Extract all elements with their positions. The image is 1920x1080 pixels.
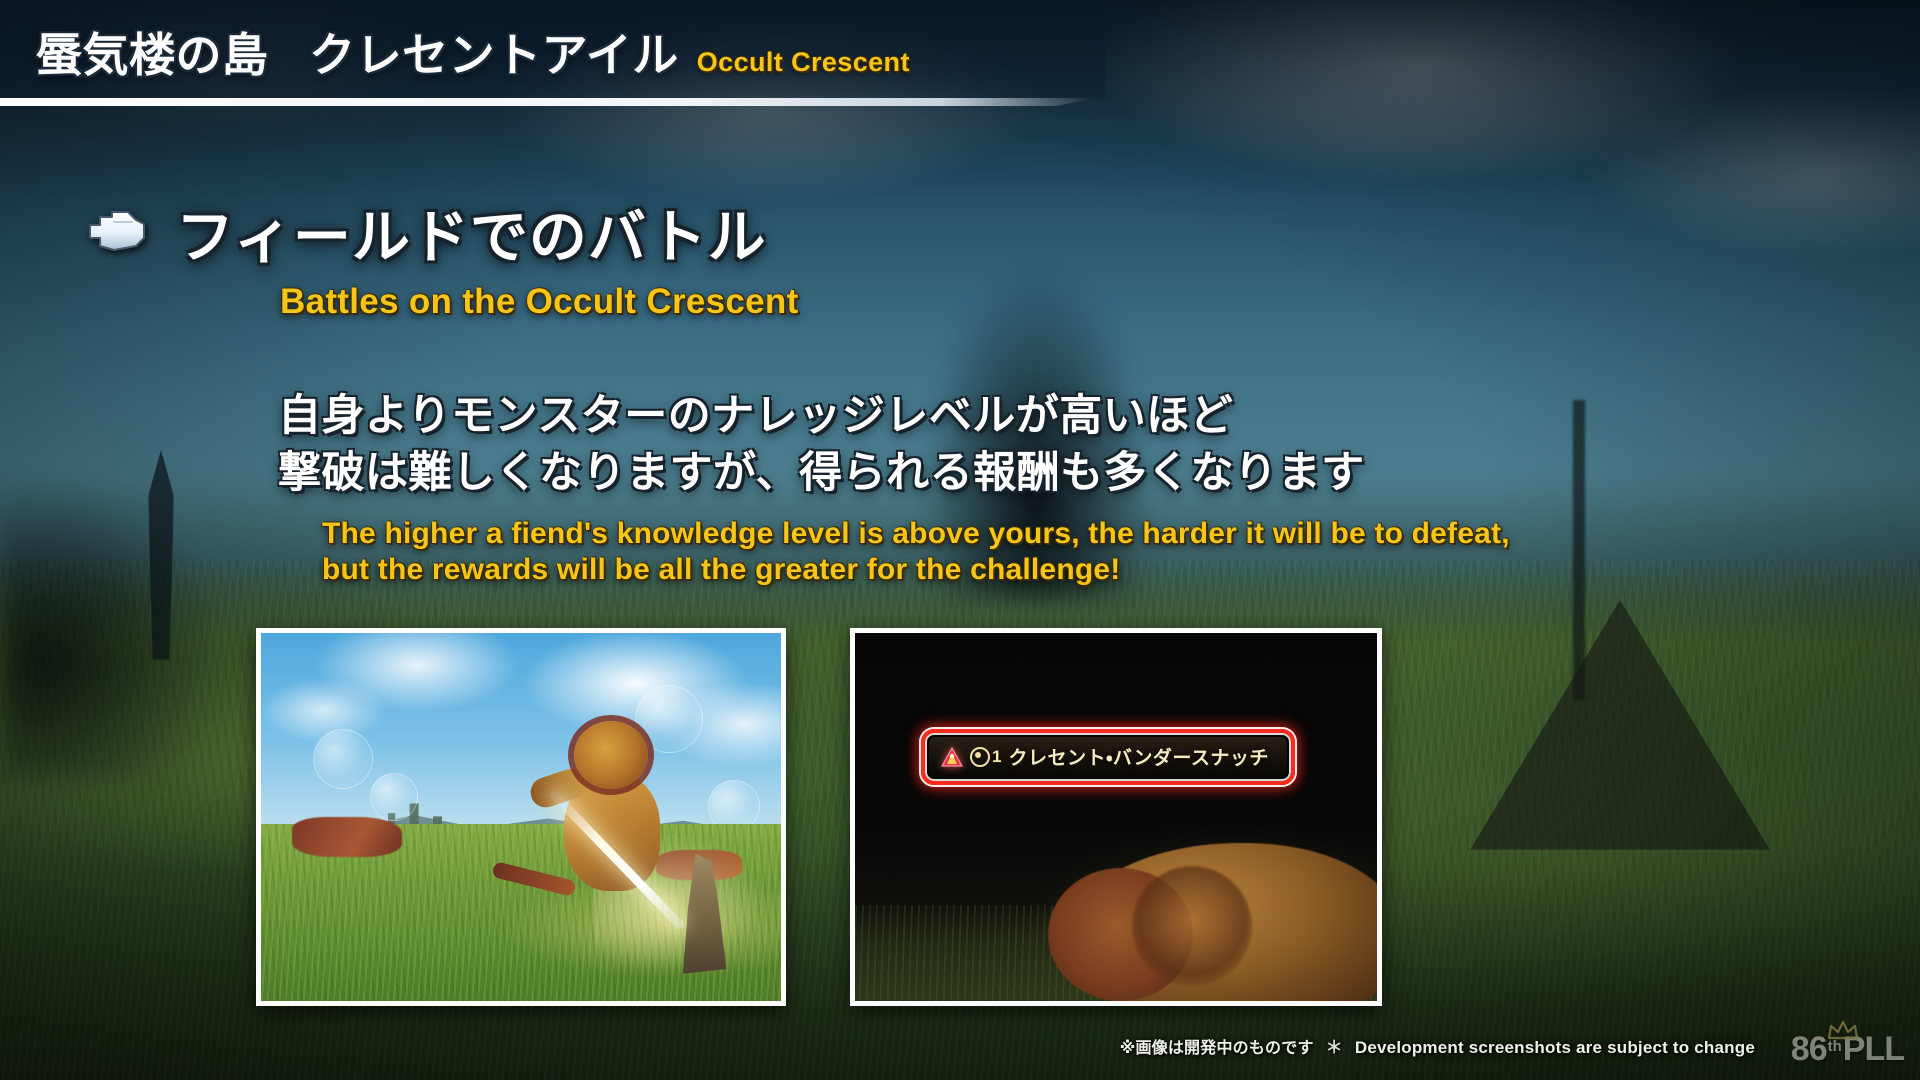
section-title-jp: フィールドでのバトル — [176, 190, 767, 274]
battle-bubble-icon — [313, 729, 373, 789]
section-heading-block: フィールドでのバトル Battles on the Occult Crescen… — [0, 190, 1920, 322]
body-en-block: The higher a fiend's knowledge level is … — [278, 516, 1920, 589]
nameplate-screenshot-canvas: 1 クレセント・バンダースナッチ — [855, 633, 1377, 1001]
header-title-en: Occult Crescent — [697, 47, 910, 78]
knowledge-level-value: 1 — [992, 747, 1001, 767]
battle-fiend — [542, 721, 692, 921]
slide-header: 蜃気楼の島 クレセントアイル Occult Crescent — [0, 0, 1105, 100]
body-en-line-1: The higher a fiend's knowledge level is … — [322, 516, 1920, 553]
header-divider — [0, 98, 1095, 106]
presentation-slide: 蜃気楼の島 クレセントアイル Occult Crescent — [0, 0, 1920, 1080]
body-jp-line-1: 自身よりモンスターのナレッジレベルが高いほど — [278, 388, 1920, 445]
battle-fiend-head — [574, 721, 648, 789]
battle-screenshot — [256, 628, 786, 1006]
target-nameplate-inner: 1 クレセント・バンダースナッチ — [929, 737, 1287, 777]
development-disclaimer: ※画像は開発中のものです ＊ Development screenshots a… — [1120, 1033, 1755, 1058]
section-heading-row: フィールドでのバトル — [0, 190, 1920, 274]
battle-bubble-icon — [370, 773, 418, 821]
target-name-label: クレセント・バンダースナッチ — [1008, 743, 1268, 770]
pointing-hand-icon — [84, 208, 150, 256]
screenshot-gallery: 1 クレセント・バンダースナッチ — [256, 628, 1382, 1006]
header-title-group: 蜃気楼の島 クレセントアイル Occult Crescent — [0, 19, 910, 85]
body-copy-block: 自身よりモンスターのナレッジレベルが高いほど 撃破は難しくなりますが、得られる報… — [0, 388, 1920, 589]
broadcast-watermark: 86 th PLL — [1791, 1032, 1904, 1066]
header-title-jp-left: 蜃気楼の島 — [36, 29, 269, 81]
watermark-number: 86 — [1791, 1032, 1827, 1066]
header-title-jp-right: クレセントアイル — [309, 29, 679, 81]
battle-screenshot-canvas — [261, 633, 781, 1001]
header-title-jp: 蜃気楼の島 クレセントアイル — [36, 19, 679, 85]
disclaimer-jp: ※画像は開発中のものです — [1120, 1034, 1314, 1058]
section-title-en: Battles on the Occult Crescent — [0, 282, 1920, 322]
battle-background-fiend — [292, 817, 402, 857]
disclaimer-separator: ＊ — [1326, 1033, 1343, 1058]
knowledge-level-badge: 1 — [970, 747, 1001, 767]
watermark-ordinal: th — [1828, 1039, 1842, 1054]
disclaimer-en: Development screenshots are subject to c… — [1355, 1038, 1755, 1058]
body-jp-line-2: 撃破は難しくなりますが、得られる報酬も多くなります — [278, 445, 1920, 502]
body-en-line-2: but the rewards will be all the greater … — [322, 552, 1920, 589]
knowledge-level-icon — [970, 747, 990, 767]
target-nameplate[interactable]: 1 クレセント・バンダースナッチ — [921, 729, 1295, 785]
nameplate-fiend-mane — [1132, 866, 1252, 986]
nameplate-screenshot: 1 クレセント・バンダースナッチ — [850, 628, 1382, 1006]
hostile-triangle-icon — [941, 747, 963, 767]
